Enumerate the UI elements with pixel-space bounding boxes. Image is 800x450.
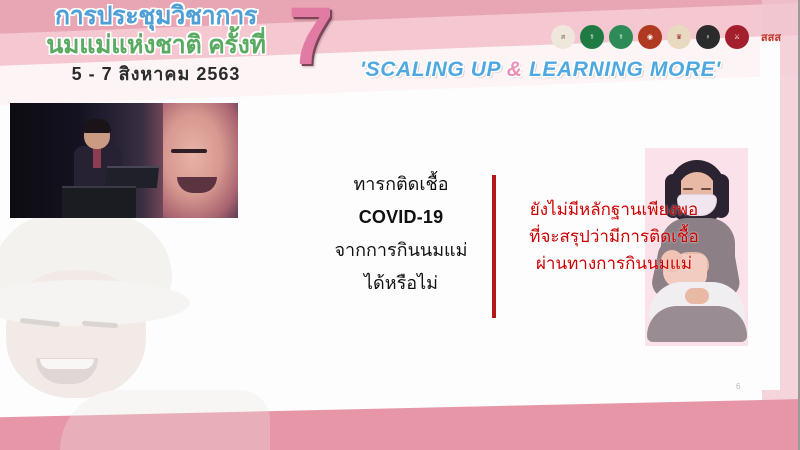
logo-thai-health-glyph: สสส [761,28,781,46]
slide-question-block: ทารกติดเชื้อ COVID-19 จากการกินนมแม่ ได้… [320,168,482,300]
logo-royal-seal: ส [551,25,575,49]
answer-line-3: ผ่านทางการกินนมแม่ [500,250,728,277]
logo-breastfeeding-centre-glyph: ♀ [705,34,710,41]
answer-line-2: ที่จะสรุปว่ามีการติดเชื้อ [500,223,728,250]
conference-edition-number: 7 [288,0,334,78]
red-vertical-divider [492,175,496,318]
projected-baby-image [163,103,238,218]
logo-medical-council: ⚔ [725,25,749,49]
logo-ministry-glyph: ⚕ [590,33,594,41]
conference-title-line1: การประชุมวิชาการ [16,2,296,30]
question-line-1: ทารกติดเชื้อ [320,168,482,201]
logo-thai-health-sss: สสส Thai Health [754,25,788,49]
mother-hand [685,288,709,304]
tagline-part-1: 'SCALING UP [360,58,507,81]
right-edge-inner [760,40,780,390]
logo-health-department-glyph: ⚕ [619,33,623,41]
logo-pediatric-society: ◉ [638,25,662,49]
logo-pediatric-society-glyph: ◉ [647,33,653,41]
speaker-tie [93,148,101,168]
mother-eye-right [701,188,711,190]
conference-title-block: การประชุมวิชาการ นมแม่แห่งชาติ ครั้งที่ … [16,2,296,86]
logo-medical-council-glyph: ⚔ [734,33,740,41]
podium-laptop [105,166,159,188]
sponsor-logo-strip: ส ⚕ กระทรวงสาธารณสุข ⚕ กรมอนามัย ◉ ♛ ♀ ⚔… [551,25,788,49]
conference-tagline: 'SCALING UP & LEARNING MORE' [360,58,721,82]
presentation-slide: การประชุมวิชาการ นมแม่แห่งชาติ ครั้งที่ … [0,0,800,450]
child-shoulders [60,390,270,450]
podium [62,186,136,218]
smiling-child-watermark [0,218,260,428]
question-line-2: COVID-19 [320,201,482,234]
slide-page-number: 6 [736,382,740,391]
mother-legs [647,306,747,342]
logo-health-department: ⚕ กรมอนามัย [609,25,633,49]
child-teeth [40,359,94,369]
tagline-ampersand: & [507,58,523,81]
tagline-part-2: LEARNING MORE' [523,58,721,81]
conference-title-line2: นมแม่แห่งชาติ ครั้งที่ [16,30,296,60]
logo-thai-breastfeeding-centre: ♀ [696,25,720,49]
slide-answer-block: ยังไม่มีหลักฐานเพียงพอ ที่จะสรุปว่ามีการ… [500,196,728,277]
speaker-hair [83,119,111,133]
speaker-glasses [85,132,109,137]
logo-ministry-of-public-health: ⚕ กระทรวงสาธารณสุข [580,25,604,49]
speaker-webcam-feed[interactable] [10,103,238,218]
answer-line-1: ยังไม่มีหลักฐานเพียงพอ [500,196,728,223]
logo-royal-seal-glyph: ส [561,32,565,43]
question-line-3: จากการกินนมแม่ [320,234,482,267]
question-line-4: ได้หรือไม่ [320,267,482,300]
conference-date: 5 - 7 สิงหาคม 2563 [16,62,296,86]
logo-nursing-council: ♛ [667,25,691,49]
mother-eye-left [683,188,693,190]
logo-nursing-council-glyph: ♛ [676,33,682,41]
